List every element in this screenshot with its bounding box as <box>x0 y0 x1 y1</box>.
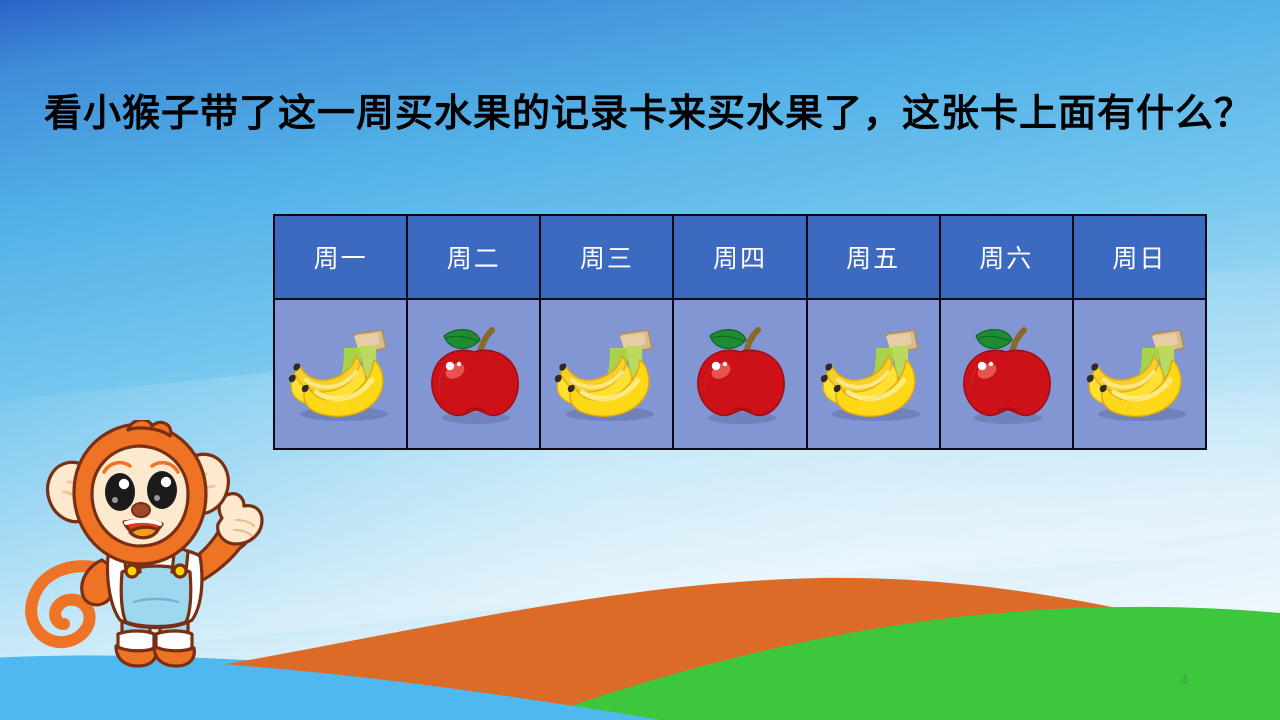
header-cell-thursday: 周四 <box>673 215 806 299</box>
header-cell-wednesday: 周三 <box>540 215 673 299</box>
header-cell-sunday: 周日 <box>1073 215 1206 299</box>
page-title: 看小猴子带了这一周买水果的记录卡来买水果了，这张卡上面有什么？ <box>44 92 1244 138</box>
banana-icon <box>548 318 666 430</box>
banana-icon <box>1080 318 1198 430</box>
orange-hill <box>210 578 1280 720</box>
table-fruit-row <box>274 299 1206 449</box>
header-cell-friday: 周五 <box>807 215 940 299</box>
fruit-cell-friday <box>807 299 940 449</box>
apple-icon <box>688 318 792 430</box>
fruit-cell-saturday <box>940 299 1073 449</box>
header-cell-tuesday: 周二 <box>407 215 540 299</box>
fruit-cell-tuesday <box>407 299 540 449</box>
slide-canvas: 看小猴子带了这一周买水果的记录卡来买水果了，这张卡上面有什么？ 周一 周二 周三… <box>0 0 1280 720</box>
header-cell-monday: 周一 <box>274 215 407 299</box>
weekly-fruit-record-table: 周一 周二 周三 周四 周五 周六 周日 <box>273 214 1207 450</box>
table-header-row: 周一 周二 周三 周四 周五 周六 周日 <box>274 215 1206 299</box>
apple-icon <box>422 318 526 430</box>
header-cell-saturday: 周六 <box>940 215 1073 299</box>
page-number: 4 <box>1180 672 1188 690</box>
monkey-mascot <box>10 420 280 670</box>
banana-icon <box>282 318 400 430</box>
fruit-cell-thursday <box>673 299 806 449</box>
fruit-cell-sunday <box>1073 299 1206 449</box>
apple-icon <box>954 318 1058 430</box>
green-hill <box>530 607 1280 720</box>
fruit-cell-wednesday <box>540 299 673 449</box>
banana-icon <box>814 318 932 430</box>
fruit-cell-monday <box>274 299 407 449</box>
